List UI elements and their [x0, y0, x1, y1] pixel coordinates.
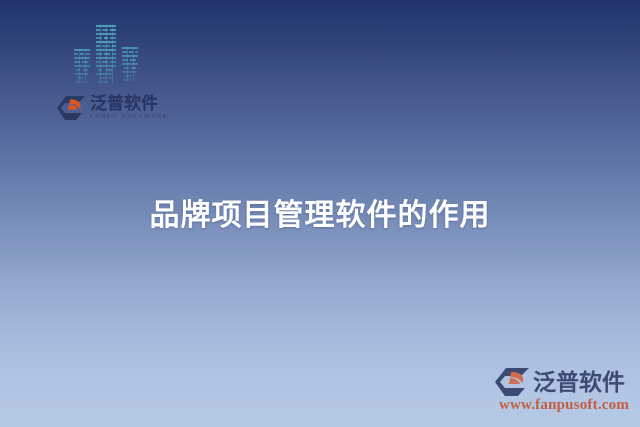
- slide-canvas: 泛普软件 FANPU SOFTWARE 品牌项目管理软件的作用 泛普软件 www…: [0, 0, 640, 427]
- pixel-skyline-icon: [68, 17, 148, 91]
- watermark-logo-row: 泛普软件: [494, 365, 634, 399]
- fanpu-logo-mark-icon: [494, 367, 530, 397]
- watermark-url: www.fanpusoft.com: [494, 396, 634, 414]
- brand-logo-words: 泛普软件 FANPU SOFTWARE: [90, 95, 168, 121]
- brand-logo-chinese: 泛普软件: [90, 95, 168, 113]
- brand-logo-english: FANPU SOFTWARE: [90, 113, 168, 121]
- fanpu-logo-mark-icon: [56, 95, 86, 121]
- watermark-chinese: 泛普软件: [533, 369, 625, 395]
- brand-logo: 泛普软件 FANPU SOFTWARE: [56, 91, 172, 124]
- page-title: 品牌项目管理软件的作用: [0, 196, 640, 236]
- watermark: 泛普软件 www.fanpusoft.com: [494, 365, 634, 421]
